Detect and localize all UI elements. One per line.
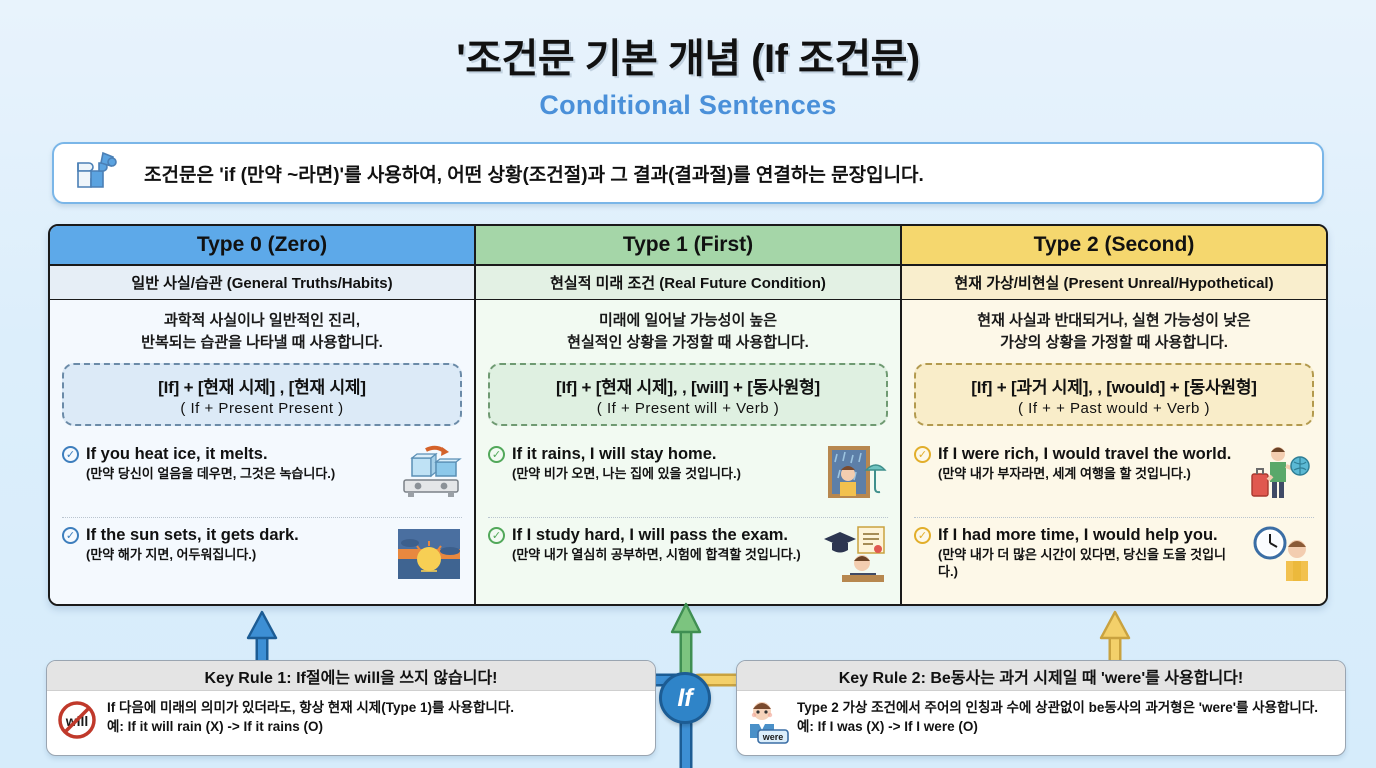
type-2-description: 현재 사실과 반대되거나, 실현 가능성이 낮은 가상의 상황을 가정할 때 사… — [914, 310, 1314, 354]
key-rule-2-title: Key Rule 2: Be동사는 과거 시제일 때 'were'를 사용합니다… — [737, 661, 1345, 691]
type-0-examples: ✓ If you heat ice, it melts. (만약 당신이 얼음을… — [62, 437, 462, 599]
check-icon: ✓ — [914, 446, 931, 463]
intro-text: 조건문은 'if (만약 ~라면)'를 사용하여, 어떤 상황(조건절)과 그 … — [144, 160, 924, 187]
desc-line: 과학적 사실이나 일반적인 진리, — [62, 310, 462, 332]
example-korean: (만약 해가 지면, 어두워집니다.) — [86, 547, 389, 563]
type-2-header: Type 2 (Second) — [902, 226, 1326, 266]
example-english: If I study hard, I will pass the exam. — [512, 526, 788, 544]
example-item: ✓ If I study hard, I will pass the exam.… — [488, 517, 888, 598]
key-rule-1-title: Key Rule 1: If절에는 will을 쓰지 않습니다! — [47, 661, 655, 691]
page-header: '조건문 기본 개념 (If 조건문) Conditional Sentence… — [0, 0, 1376, 121]
type-0-subheader: 일반 사실/습관 (General Truths/Habits) — [50, 266, 474, 300]
person-were-icon: were — [745, 698, 789, 746]
desc-line: 가상의 상황을 가정할 때 사용합니다. — [914, 332, 1314, 354]
type-2-formula-box: [If] + [과거 시제], , [would] + [동사원형] ( If … — [914, 363, 1314, 426]
type-2-examples: ✓ If I were rich, I would travel the wor… — [914, 437, 1314, 599]
formula-sub: ( If + Present Present ) — [70, 400, 454, 417]
example-item: ✓ If the sun sets, it gets dark. (만약 해가 … — [62, 517, 462, 598]
type-1-subheader: 현실적 미래 조건 (Real Future Condition) — [476, 266, 900, 300]
example-english: If I were rich, I would travel the world… — [938, 445, 1231, 463]
check-icon: ✓ — [488, 446, 505, 463]
key-rule-1-box: Key Rule 1: If절에는 will을 쓰지 않습니다! will If… — [46, 660, 656, 756]
rain-window-icon — [822, 444, 888, 502]
check-icon: ✓ — [914, 527, 931, 544]
example-korean: (만약 당신이 얼음을 데우면, 그것은 녹습니다.) — [86, 466, 389, 482]
type-2-subheader: 현재 가상/비현실 (Present Unreal/Hypothetical) — [902, 266, 1326, 300]
key-rule-2-line-1: Type 2 가상 조건에서 주어의 인칭과 수에 상관없이 be동사의 과거형… — [797, 698, 1335, 717]
formula-main: [If] + [과거 시제], , [would] + [동사원형] — [922, 373, 1306, 398]
example-item: ✓ If it rains, I will stay home. (만약 비가 … — [488, 437, 888, 517]
check-icon: ✓ — [488, 527, 505, 544]
puzzle-icon — [72, 149, 128, 197]
check-icon: ✓ — [62, 446, 79, 463]
example-english: If the sun sets, it gets dark. — [86, 526, 299, 544]
example-english: If you heat ice, it melts. — [86, 445, 268, 463]
key-rule-2-line-2: 예: If I was (X) -> If I were (O) — [797, 717, 1335, 736]
page-subtitle: Conditional Sentences — [0, 90, 1376, 121]
type-1-formula-box: [If] + [현재 시제], , [will] + [동사원형] ( If +… — [488, 363, 888, 426]
no-will-icon: will — [55, 698, 99, 746]
sunset-icon — [396, 525, 462, 583]
example-item: ✓ If I had more time, I would help you. … — [914, 517, 1314, 598]
clock-person-icon — [1248, 525, 1314, 583]
desc-line: 미래에 일어날 가능성이 높은 — [488, 310, 888, 332]
traveler-globe-icon — [1248, 444, 1314, 502]
conditional-types-table: Type 0 (Zero) 일반 사실/습관 (General Truths/H… — [48, 224, 1328, 606]
desc-line: 반복되는 습관을 나타낼 때 사용합니다. — [62, 332, 462, 354]
example-item: ✓ If you heat ice, it melts. (만약 당신이 얼음을… — [62, 437, 462, 517]
type-1-column: Type 1 (First) 현실적 미래 조건 (Real Future Co… — [474, 226, 900, 604]
key-rule-1-line-1: If 다음에 미래의 의미가 있더라도, 항상 현재 시제(Type 1)를 사… — [107, 698, 645, 717]
desc-line: 현재 사실과 반대되거나, 실현 가능성이 낮은 — [914, 310, 1314, 332]
desc-line: 현실적인 상황을 가정할 때 사용합니다. — [488, 332, 888, 354]
formula-main: [If] + [현재 시제], , [will] + [동사원형] — [496, 373, 880, 398]
type-1-header: Type 1 (First) — [476, 226, 900, 266]
formula-sub: ( If + + Past would + Verb ) — [922, 400, 1306, 417]
example-korean: (만약 내가 부자라면, 세계 여행을 할 것입니다.) — [938, 466, 1241, 482]
page-title: '조건문 기본 개념 (If 조건문) — [0, 26, 1376, 84]
formula-main: [If] + [현재 시제] , [현재 시제] — [70, 373, 454, 398]
example-english: If it rains, I will stay home. — [512, 445, 716, 463]
graduation-diploma-icon — [822, 525, 888, 583]
type-0-header: Type 0 (Zero) — [50, 226, 474, 266]
formula-sub: ( If + Present will + Verb ) — [496, 400, 880, 417]
type-0-formula-box: [If] + [현재 시제] , [현재 시제] ( If + Present … — [62, 363, 462, 426]
type-1-description: 미래에 일어날 가능성이 높은 현실적인 상황을 가정할 때 사용합니다. — [488, 310, 888, 354]
example-korean: (만약 내가 더 많은 시간이 있다면, 당신을 도을 것입니다.) — [938, 547, 1241, 580]
example-english: If I had more time, I would help you. — [938, 526, 1218, 544]
type-2-column: Type 2 (Second) 현재 가상/비현실 (Present Unrea… — [900, 226, 1326, 604]
example-item: ✓ If I were rich, I would travel the wor… — [914, 437, 1314, 517]
type-1-examples: ✓ If it rains, I will stay home. (만약 비가 … — [488, 437, 888, 599]
key-rule-1-line-2: 예: If it will rain (X) -> If it rains (O… — [107, 717, 645, 736]
type-0-column: Type 0 (Zero) 일반 사실/습관 (General Truths/H… — [50, 226, 474, 604]
intro-banner: 조건문은 'if (만약 ~라면)'를 사용하여, 어떤 상황(조건절)과 그 … — [52, 142, 1324, 204]
example-korean: (만약 비가 오면, 나는 집에 있을 것입니다.) — [512, 466, 815, 482]
example-korean: (만약 내가 열심히 공부하면, 시험에 합격할 것입니다.) — [512, 547, 815, 563]
key-rule-2-box: Key Rule 2: Be동사는 과거 시제일 때 'were'를 사용합니다… — [736, 660, 1346, 756]
type-0-description: 과학적 사실이나 일반적인 진리, 반복되는 습관을 나타낼 때 사용합니다. — [62, 310, 462, 354]
check-icon: ✓ — [62, 527, 79, 544]
svg-text:were: were — [762, 732, 784, 742]
ice-melting-stove-icon — [396, 444, 462, 502]
if-center-badge: If — [659, 672, 711, 724]
